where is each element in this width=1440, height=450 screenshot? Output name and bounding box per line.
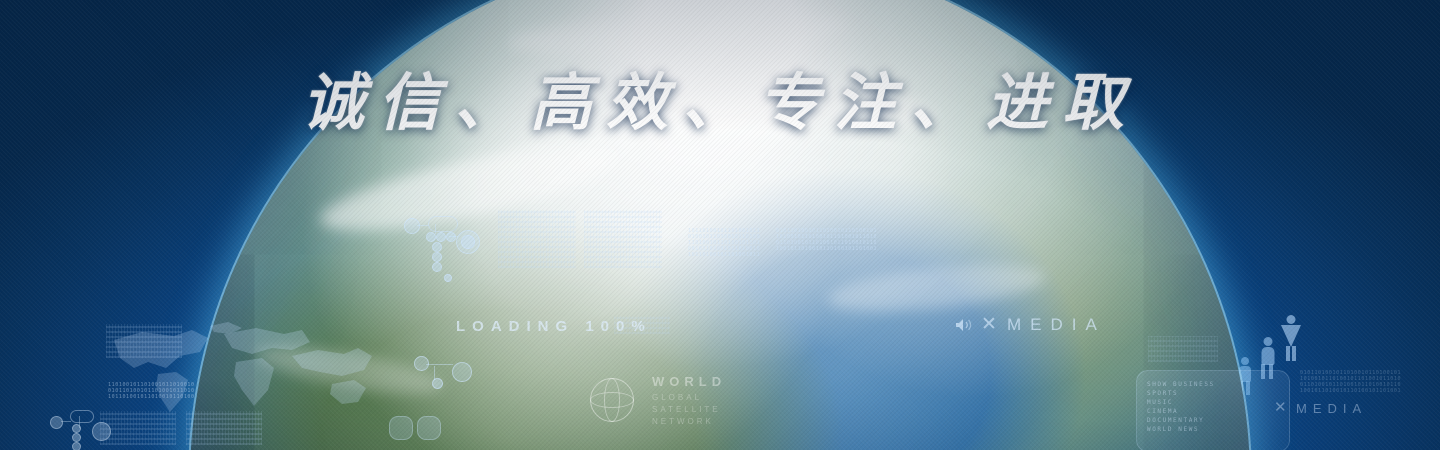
list-item[interactable]: DOCUMENTARY [1147,416,1279,425]
binary-stream: 110100101101001011010010 010110100101101… [108,382,228,398]
list-item[interactable]: CINEMA [1147,407,1279,416]
list-item[interactable]: MUSIC [1147,398,1279,407]
media-category-panel[interactable]: SHOW BUSINESS SPORTS MUSIC CINEMA DOCUME… [1136,370,1290,450]
close-icon[interactable]: ✕ [1274,398,1287,416]
data-text-block [106,324,182,358]
list-item[interactable]: SHOW BUSINESS [1147,380,1279,389]
binary-stream: 0101101001011010010110100101 10100101101… [776,228,876,272]
binary-stream: 0101101001011010010110100101 10100101101… [1300,370,1432,428]
media-category-list: SHOW BUSINESS SPORTS MUSIC CINEMA DOCUME… [1147,380,1279,434]
list-item[interactable]: WORLD NEWS [1147,425,1279,434]
chat-bubble-icon[interactable] [389,416,413,440]
network-node-diagram-mid [414,352,470,394]
data-text-block [1148,336,1218,362]
data-text-block [498,210,576,268]
data-text-block [100,411,176,445]
globe-wireframe-icon [590,378,634,422]
hero-banner: 诚信、高效、专注、进取 110100101101001011010010 010… [0,0,1440,450]
media-label-right: MEDIA [1296,401,1367,416]
chat-bubble-icon[interactable] [417,416,441,440]
loading-label: LOADING 100% [456,318,652,335]
binary-stream: 10110100101101001011 0100101101001011010… [688,228,768,272]
close-icon[interactable]: ✕ [981,313,997,336]
data-text-block [584,210,662,268]
list-item[interactable]: SPORTS [1147,389,1279,398]
data-text-block [186,411,262,445]
speaker-icon [955,317,972,333]
globe-overlay-lines: GLOBAL SATELLITE NETWORK [652,392,721,428]
media-label: MEDIA [1007,315,1106,335]
globe-overlay-word: WORLD [652,374,726,389]
network-node-diagram-top [404,210,484,282]
page-title: 诚信、高效、专注、进取 [0,52,1440,142]
